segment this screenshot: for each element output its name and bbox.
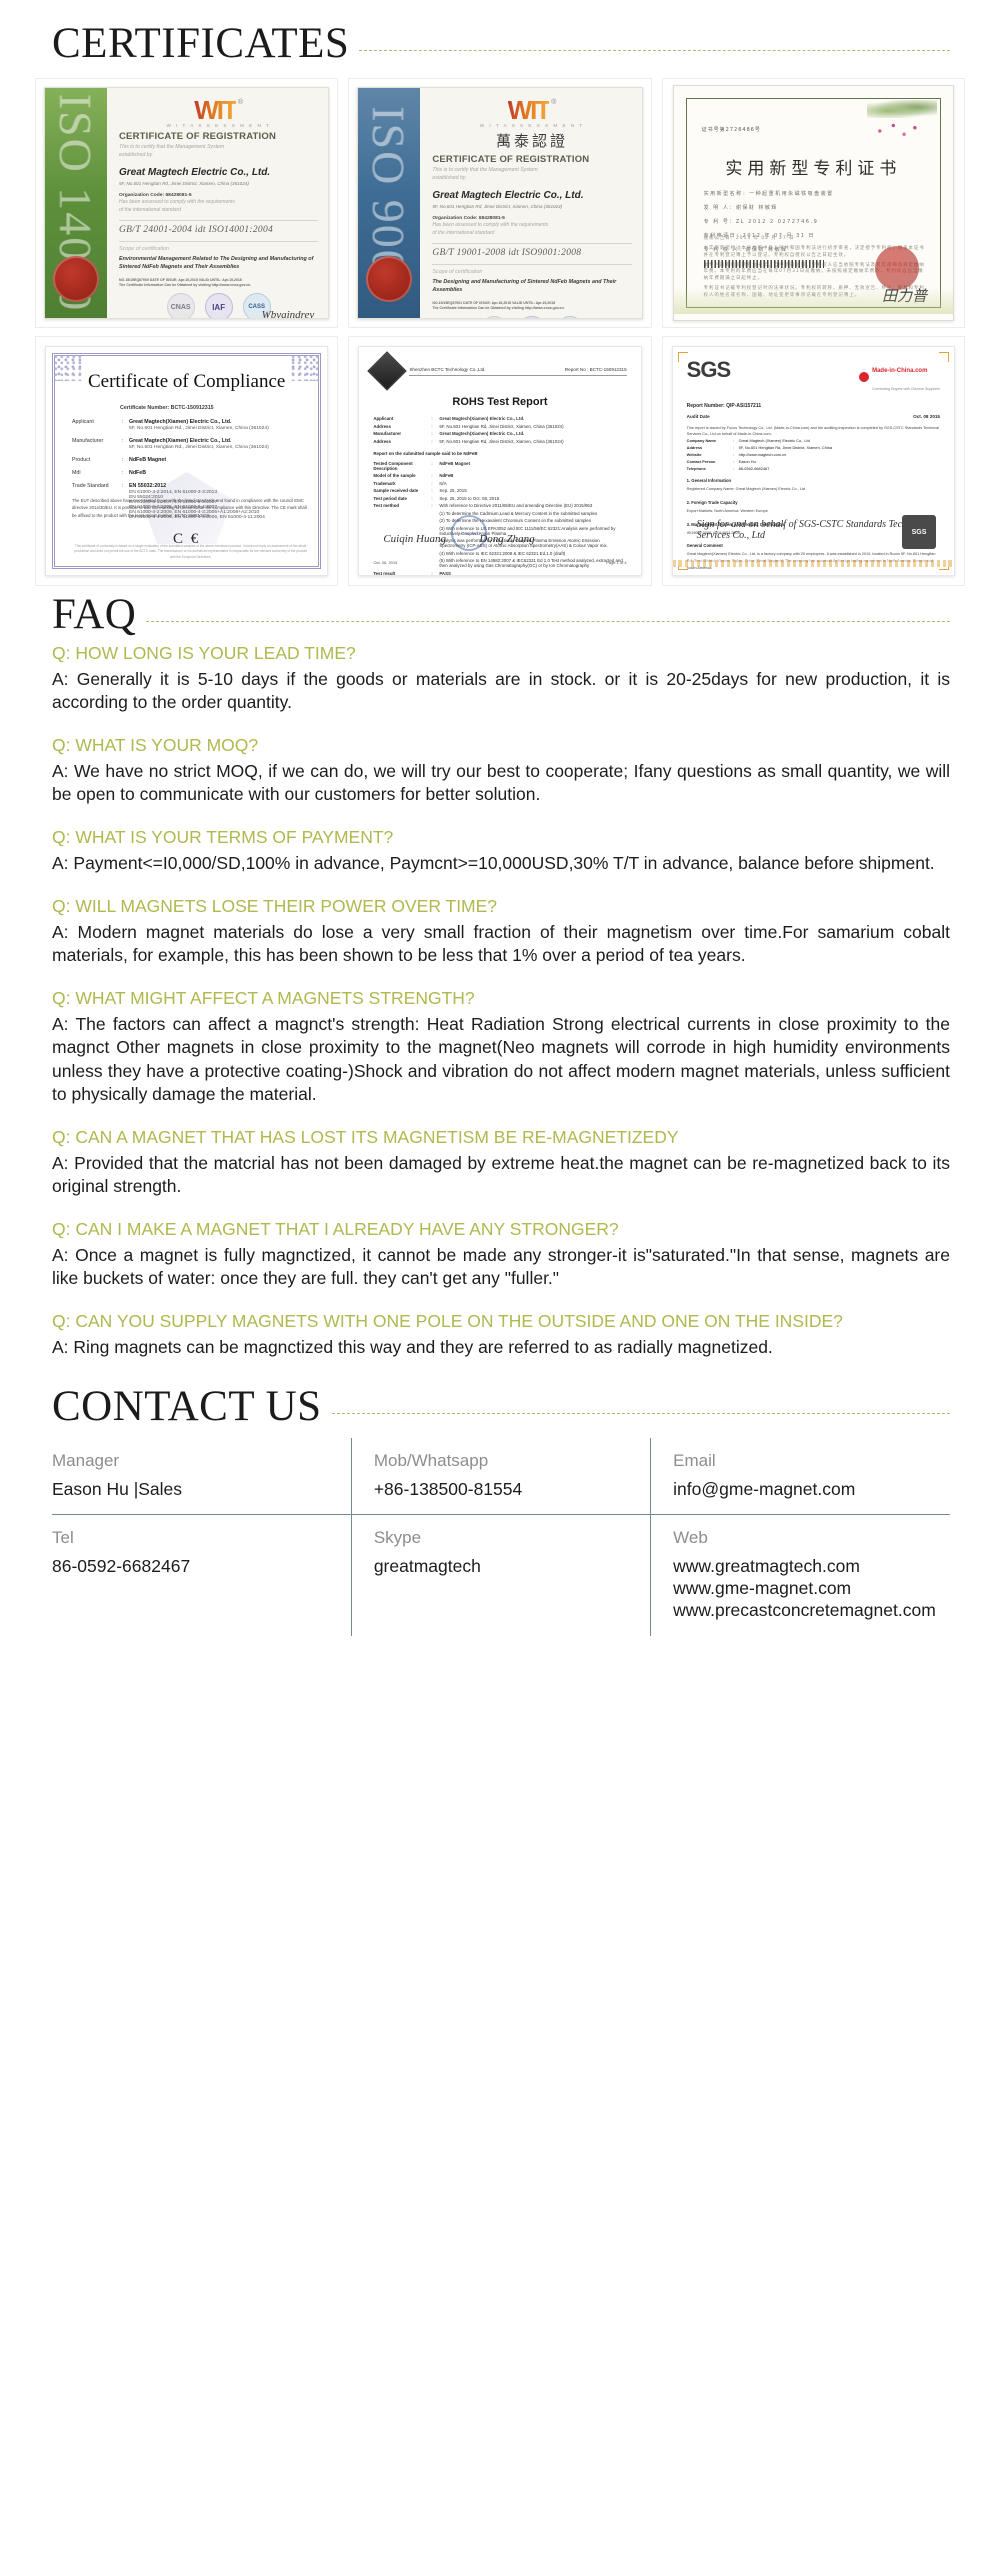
faq-question: Q: WHAT MIGHT AFFECT A MAGNETS STRENGTH?	[52, 987, 950, 1011]
table-row: (2) To determine the Hexavalent Chromium…	[373, 518, 626, 523]
mic-tagline: Connecting Buyers with Chinese Suppliers	[872, 387, 940, 391]
accreditation-marks: CNAS IAF CASS	[432, 316, 631, 318]
patent-grant-date: 授权公告日：2013 年 02 月 27 日	[704, 236, 929, 243]
certificate-standard: GB/T 19001-2008 idt ISO9001:2008	[432, 248, 631, 258]
faq-question: Q: CAN A MAGNET THAT HAS LOST ITS MAGNET…	[52, 1126, 950, 1150]
report-number: Report No : BCTC-150912315	[565, 367, 627, 372]
certificates-section-header: CERTIFICATES	[0, 0, 1000, 65]
chinese-brand-name: 萬泰認證	[432, 130, 631, 151]
compliance-cert-number: Certificate Number: BCTC-150912315	[120, 405, 214, 411]
faq-item: Q: CAN I MAKE A MAGNET THAT I ALREADY HA…	[52, 1218, 950, 1290]
rohs-sample-note: Report on the submitted sample said to b…	[373, 451, 626, 456]
faq-question: Q: WHAT IS YOUR MOQ?	[52, 734, 950, 758]
patent-field: 实用新型名称：一种起重机用永磁铁吸盘装置	[704, 190, 923, 197]
certificate-image-patent[interactable]: 证书号第2726486号 实用新型专利证书 实用新型名称：一种起重机用永磁铁吸盘…	[663, 79, 964, 327]
compliance-footer: This certificate of conformity is based …	[72, 544, 309, 561]
wit-subtitle: W I T A S S E S S M E N T	[119, 123, 318, 128]
approver-signature: Cuiqin Huang	[383, 533, 446, 545]
official-red-stamp-icon	[875, 246, 919, 290]
rohs-sample-block: Tested Component Description:NdFeB Magne…	[373, 461, 626, 577]
scope-text: Environmental Management Related to The …	[119, 255, 318, 272]
cnas-mark-icon: CNAS	[480, 316, 508, 318]
table-row: Address:5F, No.601 Hengtian Rd, Jimei Di…	[373, 424, 626, 429]
contact-cell-manager: Manager Eason Hu |Sales	[52, 1438, 351, 1514]
registered-trademark-icon: ®	[551, 99, 556, 106]
faq-item: Q: WHAT MIGHT AFFECT A MAGNETS STRENGTH?…	[52, 987, 950, 1106]
faq-answer: A: Payment<=I0,000/SD,100% in advance, P…	[52, 852, 950, 875]
wit-wordmark: WIT	[508, 99, 550, 122]
certificate-image-iso9000[interactable]: ISO 9000 WIT ® W I T A S S E S S M E N T…	[349, 79, 650, 327]
table-row: Website:http://www.magtech.com.cn	[687, 452, 940, 457]
table-row: Tested Component Description:NdFeB Magne…	[373, 461, 626, 471]
table-row: Product : NdFeB Magnet	[72, 457, 309, 463]
crop-mark-icon	[678, 352, 688, 362]
certificate-address: 5F, No.601 Hengtian Rd, Jimei District, …	[432, 204, 631, 209]
patent-footer-gradient	[674, 288, 953, 314]
certificate-standard: GB/T 24001-2004 idt ISO14001:2004	[119, 225, 318, 235]
faq-item: Q: WHAT IS YOUR TERMS OF PAYMENT? A: Pay…	[52, 826, 950, 875]
divider	[432, 243, 631, 244]
rohs-title: ROHS Test Report	[373, 396, 626, 408]
contact-value[interactable]: 86-0592-6682467	[52, 1555, 351, 1577]
table-row: Test result:PASS	[373, 571, 626, 576]
divider	[432, 264, 631, 265]
compliance-title: Certificate of Compliance	[46, 371, 327, 393]
field-label: Applicant	[72, 419, 122, 431]
bctc-logo-icon	[368, 351, 408, 391]
table-row: Company Name:Great Magtech (Xiamen) Elec…	[687, 438, 940, 443]
faq-list: Q: HOW LONG IS YOUR LEAD TIME? A: Genera…	[0, 636, 1000, 1359]
table-row: (4) With reference to IEC 62321:2008 & I…	[373, 551, 626, 556]
certificate-company: Great Magtech Electric Co., Ltd.	[432, 190, 631, 201]
contact-value[interactable]: www.greatmagtech.com www.gme-magnet.com …	[673, 1555, 950, 1622]
faq-question: Q: HOW LONG IS YOUR LEAD TIME?	[52, 642, 950, 666]
table-row: Manager Eason Hu |Sales Mob/Whatsapp +86…	[52, 1438, 950, 1514]
stars-decoration-icon	[869, 120, 923, 142]
certificate-image-compliance[interactable]: Certificate of Compliance Certificate Nu…	[36, 337, 337, 585]
product-detail-page: CERTIFICATES ISO 14000 WIT ® W I T	[0, 0, 1000, 2557]
barcode-icon	[704, 260, 824, 268]
registered-trademark-icon: ®	[238, 99, 243, 106]
field-value: Great Magtech(Xiamen) Electric Co., Ltd.	[129, 419, 269, 425]
field-value: NdFeB Magnet	[129, 457, 166, 463]
sgs-audit-date-row: Audit Date Oct. 08 2015	[687, 414, 940, 419]
certificate-image-rohs[interactable]: Shenzhen BCTC Technology Co.,Ltd. Report…	[349, 337, 650, 585]
certificate-assessed-text: Has been assessed to comply with the req…	[119, 198, 318, 214]
table-row: Address:5F, No.601 Hengtian Rd, Jimei Di…	[373, 439, 626, 444]
patent-number: 证书号第2726486号	[702, 126, 761, 133]
contact-value[interactable]: info@gme-magnet.com	[673, 1478, 950, 1500]
certificate-meta: NO.15/15EQ87900 DATE OF ISSUE: Apr.16,20…	[119, 278, 318, 289]
field-label: Product	[72, 457, 122, 463]
field-label: Mdl	[72, 470, 122, 476]
table-row: Applicant : Great Magtech(Xiamen) Electr…	[72, 419, 309, 431]
scope-label: Scope of certification	[432, 269, 631, 275]
table-row: Telephone:86-0592-6682467	[687, 466, 940, 471]
report-date: Oct. 08, 2015	[373, 560, 397, 565]
faq-answer: A: We have no strict MOQ, if we can do, …	[52, 760, 950, 807]
table-row: Model of the sample:NdFeB	[373, 473, 626, 478]
certificate-subtitle: This is to certify that the Management S…	[119, 144, 318, 160]
field-value: EN 55032:2012	[129, 483, 265, 489]
contact-cell-tel: Tel 86-0592-6682467	[52, 1515, 351, 1636]
contact-value: Eason Hu |Sales	[52, 1478, 351, 1500]
wit-logo: WIT ®	[119, 99, 318, 122]
field-label: Manufacturer	[72, 438, 122, 450]
table-row: Address:5F, No.601 Hengtian Rd, Jimei Di…	[687, 445, 940, 450]
iso14000-side-band: ISO 14000	[45, 88, 107, 318]
faq-question: Q: WILL MAGNETS LOSE THEIR POWER OVER TI…	[52, 895, 950, 919]
faq-item: Q: WILL MAGNETS LOSE THEIR POWER OVER TI…	[52, 895, 950, 967]
rohs-header: Shenzhen BCTC Technology Co.,Ltd. Report…	[373, 357, 626, 385]
cass-mark-icon: CASS	[556, 316, 584, 318]
table-row: Manufacturer : Great Magtech(Xiamen) Ele…	[72, 438, 309, 450]
page-number: Page 1 of 4	[606, 560, 626, 565]
certificate-heading: CERTIFICATE OF REGISTRATION	[432, 154, 631, 165]
table-row: Manufacturer:Great Magtech(Xiamen) Elect…	[373, 431, 626, 436]
checker-signature: Dong Zhang	[479, 533, 534, 545]
certificates-title: CERTIFICATES	[52, 22, 349, 65]
contact-value[interactable]: +86-138500-81554	[374, 1478, 650, 1500]
table-row: Tel 86-0592-6682467 Skype greatmagtech W…	[52, 1515, 950, 1636]
red-seal-icon	[366, 256, 412, 302]
faq-answer: A: Once a magnet is fully magnctized, it…	[52, 1244, 950, 1291]
table-row: Test period date:Sep. 25, 2015 to Oct. 0…	[373, 496, 626, 501]
faq-section-header: FAQ	[0, 585, 1000, 636]
iaf-mark-icon: IAF	[205, 293, 233, 318]
wit-logo: WIT ®	[432, 99, 631, 122]
table-row: Contact Person:Eason Hu	[687, 459, 940, 464]
iaf-mark-icon: IAF	[518, 316, 546, 318]
faq-question: Q: CAN YOU SUPPLY MAGNETS WITH ONE POLE …	[52, 1310, 950, 1334]
certificate-address: 5F, No.601 Hengtian Rd, Jimei District, …	[119, 181, 318, 186]
faq-question: Q: WHAT IS YOUR TERMS OF PAYMENT?	[52, 826, 950, 850]
header-dashed-rule	[146, 621, 950, 622]
rohs-footer: Oct. 08, 2015 Page 1 of 4	[373, 560, 626, 565]
sgs-report-number: Report Number: QIP-ASI157211	[687, 403, 940, 409]
sgs-footer-bar	[673, 560, 954, 567]
contact-table: Manager Eason Hu |Sales Mob/Whatsapp +86…	[52, 1438, 950, 1636]
table-row: Test method:With reference to Directive …	[373, 503, 626, 508]
certificate-meta: NO.15/15EQ87901 DATE OF ISSUE: Apr.16,20…	[432, 301, 631, 312]
contact-section-header: CONTACT US	[0, 1379, 1000, 1428]
patent-field: 发 明 人：谢保财 林敏辉	[704, 204, 923, 211]
faq-question: Q: CAN I MAKE A MAGNET THAT I ALREADY HA…	[52, 1218, 950, 1242]
sgs-logo: SGS	[687, 359, 730, 381]
table-row: Trademark:N/A	[373, 481, 626, 486]
faq-answer: A: The factors can affect a magnct's str…	[52, 1013, 950, 1106]
contact-label: Web	[673, 1525, 950, 1551]
field-value: NdFeB	[129, 470, 146, 476]
patent-field: 专 利 号：ZL 2012 2 0272746.9	[704, 218, 923, 225]
contact-value[interactable]: greatmagtech	[374, 1555, 650, 1577]
table-row: (1) To determine the Cadmium,Lead & Merc…	[373, 511, 626, 516]
sgs-seal-icon: SGS	[902, 515, 936, 549]
faq-item: Q: CAN A MAGNET THAT HAS LOST ITS MAGNET…	[52, 1126, 950, 1198]
leaf-decoration-icon	[867, 100, 937, 118]
divider	[119, 220, 318, 221]
field-subvalue: 5F, No.601 Hengtian Rd., Jimei District,…	[129, 445, 269, 450]
contact-cell-whatsapp: Mob/Whatsapp +86-138500-81554	[351, 1438, 650, 1514]
faq-answer: A: Ring magnets can be magnctized this w…	[52, 1336, 950, 1359]
rohs-applicant-block: Applicant:Great Magtech(Xiamen) Electric…	[373, 416, 626, 444]
section-title: 2. Foreign Trade Capacity	[687, 500, 940, 505]
certificate-assessed-text: Has been assessed to comply with the req…	[432, 221, 631, 237]
table-row: Applicant:Great Magtech(Xiamen) Electric…	[373, 416, 626, 421]
faq-answer: A: Modern magnet materials do lose a ver…	[52, 921, 950, 968]
red-seal-icon	[53, 256, 99, 302]
section-line: Export Markets: North America, Western E…	[687, 508, 940, 515]
scope-label: Scope of certification	[119, 246, 318, 252]
certificate-image-iso14000[interactable]: ISO 14000 WIT ® W I T A S S E S S M E N …	[36, 79, 337, 327]
compliance-statement: The EUT described above have been tested…	[72, 497, 309, 519]
faq-title: FAQ	[52, 593, 136, 636]
section-line: Registered Company Name: Great Magtech (…	[687, 486, 940, 493]
table-row: Sample received date:Sep. 25, 2015	[373, 488, 626, 493]
certificate-subtitle: This is to certify that the Management S…	[432, 167, 631, 183]
faq-answer: A: Provided that the matcrial has not be…	[52, 1152, 950, 1199]
contact-title: CONTACT US	[52, 1385, 322, 1428]
faq-answer: A: Generally it is 5-10 days if the good…	[52, 668, 950, 715]
certificate-image-sgs[interactable]: SGS Made-in-China.com Connecting Buyers …	[663, 337, 964, 585]
header-dashed-rule	[359, 50, 950, 51]
contact-cell-skype: Skype greatmagtech	[351, 1515, 650, 1636]
sgs-header: SGS Made-in-China.com Connecting Buyers …	[687, 359, 940, 395]
contact-cell-web: Web www.greatmagtech.com www.gme-magnet.…	[651, 1515, 950, 1636]
crop-mark-icon	[939, 352, 949, 362]
contact-label: Email	[673, 1448, 950, 1474]
field-value: Great Magtech(Xiamen) Electric Co., Ltd.	[129, 438, 269, 444]
header-dashed-rule	[332, 1413, 950, 1414]
field-subvalue: 5F, No.601 Hengtian Rd., Jimei District,…	[129, 426, 269, 431]
faq-item: Q: WHAT IS YOUR MOQ? A: We have no stric…	[52, 734, 950, 806]
mic-wordmark: Made-in-China.com	[872, 368, 927, 374]
contact-label: Tel	[52, 1525, 351, 1551]
iso9000-side-band: ISO 9000	[358, 88, 420, 318]
sgs-intro: This report is issued by Focus Technolog…	[687, 425, 940, 438]
scope-text: The Designing and Manufacturing of Sinte…	[432, 278, 631, 295]
mic-dot-icon	[859, 372, 869, 382]
contact-cell-email: Email info@gme-magnet.com	[651, 1438, 950, 1514]
audit-date-label: Audit Date	[687, 414, 710, 419]
patent-title: 实用新型专利证书	[674, 154, 953, 179]
faq-item: Q: HOW LONG IS YOUR LEAD TIME? A: Genera…	[52, 642, 950, 714]
sgs-company-fields: Company Name:Great Magtech (Xiamen) Elec…	[687, 438, 940, 471]
divider	[119, 241, 318, 242]
cnas-mark-icon: CNAS	[167, 293, 195, 318]
section-title: 1. General Information	[687, 478, 940, 483]
table-row: Mdl : NdFeB	[72, 470, 309, 476]
contact-label: Manager	[52, 1448, 351, 1474]
made-in-china-logo: Made-in-China.com Connecting Buyers with…	[859, 359, 940, 395]
certificate-company: Great Magtech Electric Co., Ltd.	[119, 167, 318, 178]
lab-name: Shenzhen BCTC Technology Co.,Ltd.	[409, 367, 485, 372]
contact-block: Manager Eason Hu |Sales Mob/Whatsapp +86…	[0, 1428, 1000, 1666]
audit-date-value: Oct. 08 2015	[913, 414, 940, 419]
faq-item: Q: CAN YOU SUPPLY MAGNETS WITH ONE POLE …	[52, 1310, 950, 1359]
contact-label: Mob/Whatsapp	[374, 1448, 650, 1474]
wit-wordmark: WIT	[194, 99, 236, 122]
wit-subtitle: W I T A S S E S S M E N T	[432, 123, 631, 128]
certificates-grid: ISO 14000 WIT ® W I T A S S E S S M E N …	[0, 65, 1000, 585]
certificate-heading: CERTIFICATE OF REGISTRATION	[119, 131, 318, 142]
contact-label: Skype	[374, 1525, 650, 1551]
